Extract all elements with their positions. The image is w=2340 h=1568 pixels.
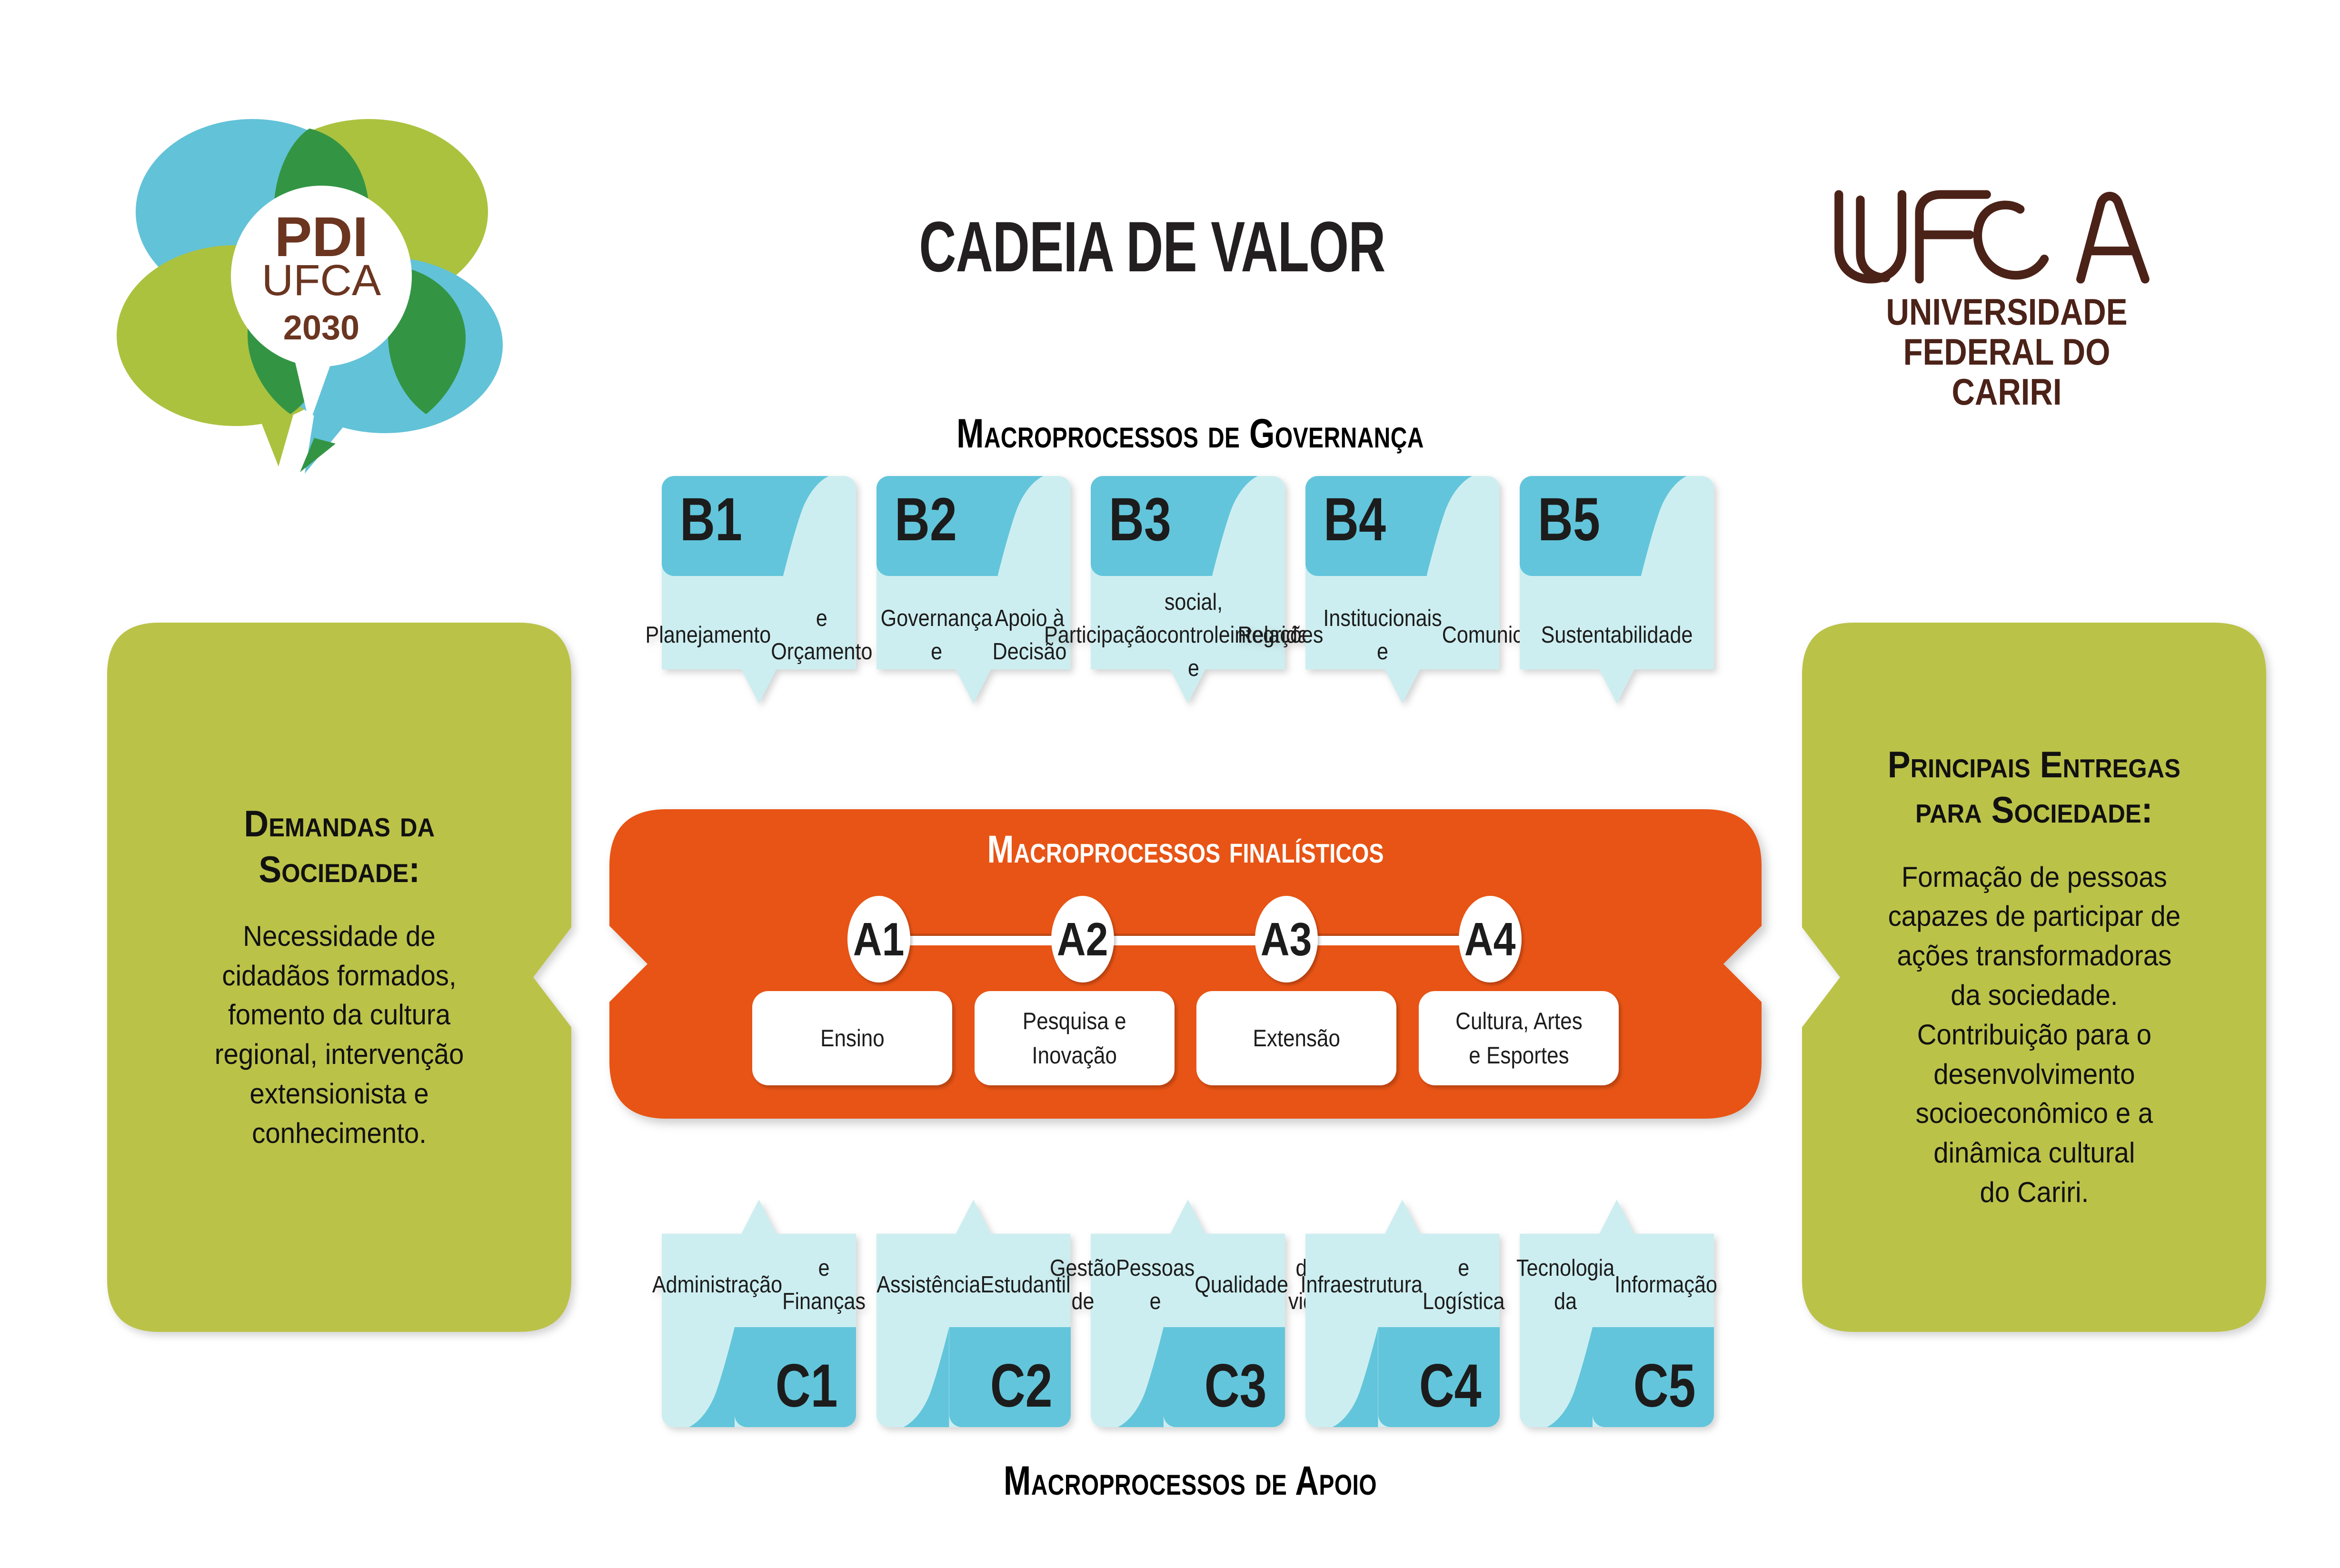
core-process-label: Pesquisa eInovação <box>1023 1004 1126 1073</box>
governance-card[interactable]: B2 Governança eApoio à Decisão <box>876 476 1071 704</box>
ufca-logo-line2: FEDERAL DO CARIRI <box>1845 332 2168 412</box>
core-process-box-row: Ensino Pesquisa eInovação Extensão Cultu… <box>752 991 1619 1085</box>
card-code: B3 <box>1109 489 1171 550</box>
society-demands-title: Demandas daSociedade: <box>244 801 435 892</box>
core-process-label: Cultura, Artese Esportes <box>1455 1004 1583 1073</box>
society-demands-text: Necessidade decidadãos formados,fomento … <box>215 917 464 1153</box>
society-demands-panel: Demandas daSociedade: Necessidade decida… <box>107 623 571 1332</box>
support-card[interactable]: C3 Gestão dePessoas eQualidadede vida <box>1091 1200 1285 1427</box>
card-code: C3 <box>1205 1356 1267 1417</box>
core-node-code: A3 <box>1261 916 1312 963</box>
chain-bar <box>874 936 1497 945</box>
core-node-a1[interactable]: A1 <box>847 896 910 982</box>
core-node-a4[interactable]: A4 <box>1459 896 1522 982</box>
card-code: B2 <box>895 489 957 550</box>
pdi-ufca-2030-logo: PDI UFCA 2030 <box>110 86 505 476</box>
core-process-box[interactable]: Cultura, Artese Esportes <box>1419 991 1619 1085</box>
support-card[interactable]: C4 Infraestruturae Logística <box>1305 1200 1500 1427</box>
card-label: Gestão dePessoas eQualidadede vida <box>1110 1243 1265 1327</box>
card-code: C2 <box>990 1356 1053 1417</box>
society-deliveries-text: Formação de pessoascapazes de participar… <box>1888 858 2181 1212</box>
card-code: B5 <box>1538 489 1600 550</box>
card-code: C4 <box>1419 1356 1482 1417</box>
value-chain-connector: A1 A2 A3 A4 <box>847 896 1523 982</box>
core-process-box[interactable]: Pesquisa eInovação <box>975 991 1175 1085</box>
core-process-label: Ensino <box>820 1021 885 1056</box>
core-node-a2[interactable]: A2 <box>1051 896 1114 982</box>
core-node-a3[interactable]: A3 <box>1255 896 1318 982</box>
governance-card[interactable]: B4 RelaçõesInstitucionais eComunicação <box>1305 476 1500 704</box>
ufca-logo: UNIVERSIDADE FEDERAL DO CARIRI <box>1819 186 2195 376</box>
bubble-overlap-tail <box>300 438 336 472</box>
pdi-logo-line2: UFCA <box>262 256 381 305</box>
pdi-logo-line3: 2030 <box>283 309 359 347</box>
card-code: B1 <box>680 489 742 550</box>
support-card[interactable]: C5 Tecnologia daInformação <box>1520 1200 1714 1427</box>
card-label: Tecnologia daInformação <box>1539 1243 1694 1327</box>
core-processes-panel: Macroprocessos finalísticos A1 A2 A3 A4 … <box>609 809 1762 1119</box>
core-node-code: A2 <box>1057 916 1108 963</box>
card-label: RelaçõesInstitucionais eComunicação <box>1324 595 1480 676</box>
ufca-wordmark-icon <box>1819 186 2195 288</box>
governance-card[interactable]: B1 Planejamentoe Orçamento <box>662 476 856 704</box>
governance-card[interactable]: B5 Sustentabilidade <box>1520 476 1714 704</box>
card-label: Governança eApoio à Decisão <box>896 595 1051 676</box>
core-process-label: Extensão <box>1253 1021 1340 1056</box>
card-label: AssistênciaEstudantil <box>896 1243 1051 1327</box>
section-header-support: Macroprocessos de Apoio <box>764 1458 1617 1505</box>
card-label: Administraçãoe Finanças <box>681 1243 836 1327</box>
support-card-row: C1 Administraçãoe Finanças C2 Assistênci… <box>662 1200 1714 1428</box>
governance-card-row: B1 Planejamentoe Orçamento B2 Governança… <box>662 476 1714 705</box>
card-code: C1 <box>776 1356 838 1417</box>
ufca-logo-line1: UNIVERSIDADE <box>1845 292 2168 332</box>
core-process-box[interactable]: Extensão <box>1196 991 1396 1085</box>
page-title: CADEIA DE VALOR <box>850 209 1454 285</box>
support-card[interactable]: C1 Administraçãoe Finanças <box>662 1200 856 1427</box>
section-header-governance: Macroprocessos de Governança <box>764 410 1617 457</box>
society-deliveries-panel: Principais Entregaspara Sociedade: Forma… <box>1802 623 2266 1332</box>
core-panel-title: Macroprocessos finalísticos <box>713 827 1658 872</box>
core-process-box[interactable]: Ensino <box>752 991 952 1085</box>
support-card[interactable]: C2 AssistênciaEstudantil <box>876 1200 1071 1427</box>
card-label: Infraestruturae Logística <box>1324 1243 1480 1327</box>
society-deliveries-title: Principais Entregaspara Sociedade: <box>1888 742 2181 833</box>
card-code: B4 <box>1324 489 1386 550</box>
card-label: Sustentabilidade <box>1539 595 1694 676</box>
governance-card[interactable]: B3 Participaçãosocial, controle eintegri… <box>1091 476 1285 704</box>
card-code: C5 <box>1633 1356 1696 1417</box>
core-node-code: A1 <box>853 916 905 963</box>
pdi-logo-svg: PDI UFCA 2030 <box>110 86 505 476</box>
card-label: Planejamentoe Orçamento <box>681 595 836 676</box>
core-node-code: A4 <box>1464 916 1516 963</box>
